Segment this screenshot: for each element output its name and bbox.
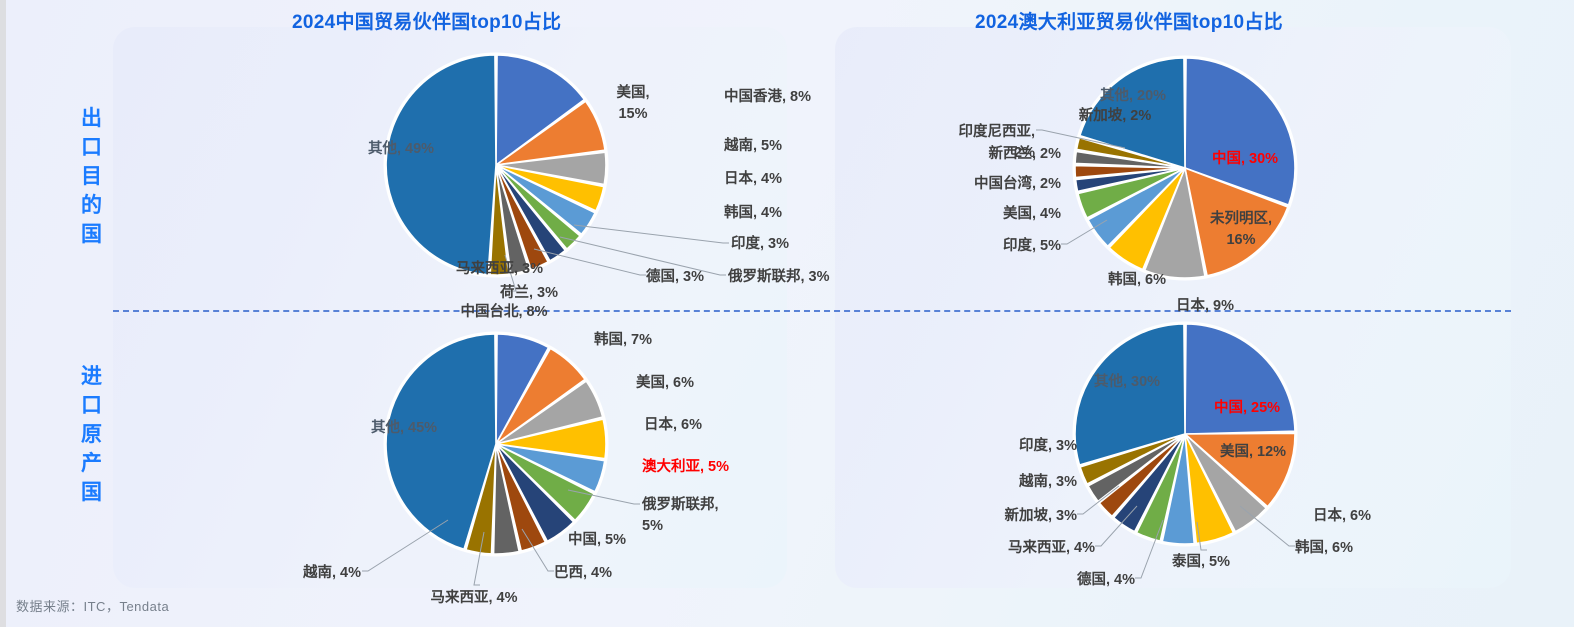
pie-data-label: 其他, 20% — [1100, 86, 1166, 104]
pie-data-label: 中国台北, 8% — [460, 302, 547, 320]
pie-data-label: 印度, 5% — [1003, 236, 1061, 254]
pie-data-label: 韩国, 4% — [724, 203, 782, 221]
pie-data-label: 德国, 4% — [1077, 570, 1135, 588]
source-note: 数据来源：ITC，Tendata — [16, 596, 169, 615]
pie-data-label: 日本, 6% — [1313, 506, 1371, 524]
pie-chart-australia-import: 中国, 25%美国, 12%日本, 6%韩国, 6%泰国, 5%德国, 4%马来… — [880, 318, 1350, 588]
pie-data-label: 马来西亚, 4% — [1008, 538, 1095, 556]
pie-data-label: 印度, 3% — [1019, 436, 1077, 454]
pie-data-label: 日本, 4% — [724, 169, 782, 187]
pie-data-label: 新加坡, 3% — [1004, 506, 1077, 524]
pie-data-label: 中国香港, 8% — [724, 87, 811, 105]
panel-title-china: 2024中国贸易伙伴国top10占比 — [292, 7, 561, 34]
pie-data-label: 美国,15% — [616, 83, 649, 122]
pie-data-label: 泰国, 5% — [1172, 552, 1230, 570]
pie-data-label: 澳大利亚, 5% — [642, 457, 729, 475]
pie-data-label: 巴西, 4% — [554, 564, 612, 581]
leader-line — [574, 225, 729, 243]
pie-data-label: 美国, 4% — [1003, 204, 1061, 222]
pie-chart-china-export: 美国,15%中国香港, 8%越南, 5%日本, 4%韩国, 4%印度, 3%俄罗… — [330, 40, 790, 310]
pie-data-label: 越南, 5% — [723, 136, 782, 154]
pie-data-label: 德国, 3% — [646, 267, 704, 285]
pie-chart-australia-export: 中国, 30%未列明区,16%日本, 9%韩国, 6%印度, 5%美国, 4%中… — [880, 40, 1350, 310]
pie-data-label: 日本, 6% — [644, 415, 702, 433]
pie-data-label: 韩国, 6% — [1108, 270, 1166, 288]
pie-data-label: 中国, 5% — [568, 530, 626, 548]
pie-data-label: 马来西亚, 3% — [456, 259, 543, 277]
pie-data-label: 韩国, 6% — [1295, 538, 1353, 556]
pie-data-label: 荷兰, 3% — [500, 283, 558, 301]
pie-data-label: 中国, 30% — [1212, 149, 1278, 167]
pie-data-label: 新加坡, 2% — [1079, 106, 1152, 124]
pie-data-label: 美国, 6% — [636, 373, 694, 391]
pie-slice — [386, 55, 496, 275]
pie-data-label: 中国台湾, 2% — [974, 174, 1061, 192]
left-edge-strip — [0, 0, 6, 627]
pie-data-label: 日本, 9% — [1176, 296, 1234, 314]
pie-data-label: 越南, 3% — [1018, 472, 1077, 490]
row-label-import: 进口原产国 — [75, 362, 109, 507]
pie-data-label: 俄罗斯联邦, 3% — [727, 267, 830, 285]
pie-data-label: 美国, 12% — [1220, 442, 1286, 460]
panel-title-australia: 2024澳大利亚贸易伙伴国top10占比 — [975, 7, 1283, 34]
pie-data-label: 印度, 3% — [731, 234, 789, 252]
pie-data-label: 俄罗斯联邦,5% — [641, 495, 719, 534]
pie-data-label: 中国, 25% — [1214, 398, 1280, 416]
pie-data-label: 其他, 45% — [371, 418, 437, 436]
row-label-export: 出口目的国 — [75, 104, 109, 249]
pie-data-label: 其他, 30% — [1094, 372, 1160, 390]
leader-line — [362, 520, 448, 571]
pie-data-label: 越南, 4% — [302, 563, 361, 581]
pie-data-label: 韩国, 7% — [594, 330, 652, 348]
pie-slice — [1185, 324, 1295, 434]
pie-chart-china-import: 中国台北, 8%韩国, 7%美国, 6%日本, 6%澳大利亚, 5%俄罗斯联邦,… — [330, 318, 790, 588]
section-divider — [113, 310, 1511, 312]
pie-data-label: 其他, 49% — [368, 139, 434, 157]
pie-data-label: 马来西亚, 4% — [430, 588, 517, 606]
